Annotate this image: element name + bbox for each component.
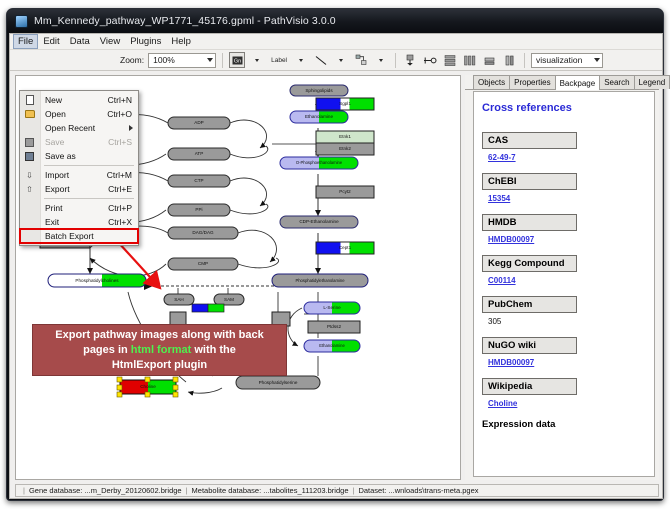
status-dataset-label: Dataset: xyxy=(358,486,386,495)
menu-item-save-accel: Ctrl+S xyxy=(108,137,132,147)
pathway-node-phosphatidylethanolamine[interactable]: Phosphatidylethanolamine xyxy=(272,274,368,287)
svg-text:Phosphatidylethanolamine: Phosphatidylethanolamine xyxy=(295,278,345,283)
pathway-node-ppi[interactable]: PPi xyxy=(168,204,230,216)
expression-data-heading: Expression data xyxy=(482,419,646,430)
svg-text:Choline: Choline xyxy=(140,384,156,389)
pathway-node-cmp[interactable]: CMP xyxy=(168,258,238,270)
svg-text:CMP: CMP xyxy=(198,261,208,266)
pathway-node-phosphatidylserine[interactable]: Phosphatidylserine xyxy=(236,376,320,389)
pathway-node-l-serine[interactable]: L-Serine xyxy=(304,302,360,314)
tab-properties[interactable]: Properties xyxy=(509,75,555,89)
pathway-gene-etnk2[interactable]: Etnk2 xyxy=(316,143,374,155)
menu-item-exit-label: Exit xyxy=(45,217,59,227)
menu-item-export-label: Export xyxy=(45,184,70,194)
callout-highlight: html format xyxy=(131,344,192,356)
svg-text:Pcyt2: Pcyt2 xyxy=(339,189,351,194)
tab-legend[interactable]: Legend xyxy=(634,75,670,89)
callout-line-1: Export pathway images along with back xyxy=(55,328,263,343)
status-gene-db-value: ...m_Derby_20120602.bridge xyxy=(84,486,181,495)
align-middle-button[interactable] xyxy=(422,52,438,68)
menu-view[interactable]: View xyxy=(95,34,125,49)
pathway-node-ethanolamine-top[interactable]: Ethanolamine xyxy=(290,111,348,123)
menu-bar: File Edit Data View Plugins Help xyxy=(10,34,662,50)
status-divider: | xyxy=(352,486,354,495)
side-panel-tabs: Objects Properties Backpage Search Legen… xyxy=(465,75,659,90)
menu-data[interactable]: Data xyxy=(65,34,95,49)
menu-item-batch-export[interactable]: Batch Export xyxy=(20,229,138,243)
menu-item-import[interactable]: ⇩ Import Ctrl+M xyxy=(20,168,138,182)
menu-item-export[interactable]: ⇧ Export Ctrl+E xyxy=(20,182,138,196)
distribute-vertical-button[interactable] xyxy=(442,52,458,68)
pathway-node-sphingolipids[interactable]: Sphingolipids xyxy=(290,85,348,96)
zoom-value: 100% xyxy=(153,55,175,65)
chevron-right-icon xyxy=(129,125,133,131)
svg-text:O-Phosphoethanolamine: O-Phosphoethanolamine xyxy=(296,160,343,165)
svg-text:CDP-Ethanolamine: CDP-Ethanolamine xyxy=(299,219,339,224)
toolbar-separator xyxy=(524,53,525,68)
pathway-gene-ptdss2[interactable]: Ptdss2 xyxy=(308,321,360,333)
file-menu-dropdown[interactable]: New Ctrl+N Open Ctrl+O Open Recent Save … xyxy=(19,90,139,246)
callout-line-2: pages in html format with the xyxy=(83,343,236,358)
gene-product-button[interactable]: Gn xyxy=(229,52,245,68)
chevron-down-icon xyxy=(594,58,600,62)
menu-item-save-as-label: Save as xyxy=(45,151,76,161)
status-divider: | xyxy=(186,486,188,495)
callout-line-3: HtmlExport plugin xyxy=(112,358,207,373)
menu-item-batch-export-label: Batch Export xyxy=(45,231,94,241)
annotation-callout: Export pathway images along with back pa… xyxy=(32,324,287,376)
pathway-node-adp[interactable]: ADP xyxy=(168,117,230,129)
cross-references-heading: Cross references xyxy=(482,102,646,114)
tab-backpage[interactable]: Backpage xyxy=(555,75,601,90)
menu-item-new[interactable]: New Ctrl+N xyxy=(20,93,138,107)
pathway-gene-sgpl1[interactable]: Sgpl1 xyxy=(316,98,374,110)
svg-text:Cept1: Cept1 xyxy=(339,245,352,250)
menu-item-open-recent-label: Open Recent xyxy=(45,123,95,133)
same-width-button[interactable] xyxy=(482,52,498,68)
toolbar-separator xyxy=(395,53,396,68)
menu-separator xyxy=(44,198,134,199)
status-gene-db-label: Gene database: xyxy=(29,486,82,495)
callout-line-2a: pages in xyxy=(83,344,131,356)
gene-product-dropdown[interactable] xyxy=(249,52,265,68)
menu-separator xyxy=(44,165,134,166)
pathway-node-ethanolamine-lower[interactable]: Ethanolamine xyxy=(304,340,360,352)
same-height-button[interactable] xyxy=(502,52,518,68)
pathway-node-atp[interactable]: ATP xyxy=(168,148,230,160)
xref-value-kegg-compound[interactable]: C00114 xyxy=(488,276,646,285)
menu-item-save: Save Ctrl+S xyxy=(20,135,138,149)
tab-search[interactable]: Search xyxy=(599,75,634,89)
xref-value-nugo-wiki[interactable]: HMDB00097 xyxy=(488,358,646,367)
menu-item-import-accel: Ctrl+M xyxy=(107,170,132,180)
svg-text:DAG/DAG: DAG/DAG xyxy=(192,230,214,235)
svg-text:Ethanolamine: Ethanolamine xyxy=(319,343,345,348)
import-icon: ⇩ xyxy=(24,170,35,181)
menu-item-print-accel: Ctrl+P xyxy=(108,203,132,213)
window-titlebar: Mm_Kennedy_pathway_WP1771_45176.gpml - P… xyxy=(7,9,663,33)
tab-objects[interactable]: Objects xyxy=(473,75,510,89)
visualization-combobox[interactable]: visualization xyxy=(531,53,603,68)
menu-item-exit-accel: Ctrl+X xyxy=(108,217,132,227)
menu-item-new-label: New xyxy=(45,95,62,105)
menu-plugins[interactable]: Plugins xyxy=(125,34,166,49)
pathway-node-choline-selected[interactable]: Choline xyxy=(117,377,178,397)
save-as-disk-icon xyxy=(24,151,35,162)
connector-dropdown[interactable] xyxy=(373,52,389,68)
svg-text:CTP: CTP xyxy=(194,178,203,183)
svg-text:SAM: SAM xyxy=(224,297,234,302)
backpage-content[interactable]: Cross references CAS 62-49-7 ChEBI 15354… xyxy=(473,91,655,477)
svg-text:Sgpl1: Sgpl1 xyxy=(339,101,351,106)
menu-item-save-label: Save xyxy=(45,137,64,147)
svg-text:Gn: Gn xyxy=(233,58,240,64)
menu-edit[interactable]: Edit xyxy=(38,34,64,49)
side-panel: Objects Properties Backpage Search Legen… xyxy=(465,75,659,480)
label-dropdown[interactable] xyxy=(293,52,309,68)
chevron-down-icon xyxy=(207,58,213,62)
svg-text:SAH: SAH xyxy=(174,297,183,302)
xref-value-pubchem: 305 xyxy=(488,317,646,326)
svg-text:Phosphatidylcholines: Phosphatidylcholines xyxy=(75,278,119,283)
new-document-icon xyxy=(24,95,35,106)
xref-value-wikipedia[interactable]: Choline xyxy=(488,399,646,408)
pathway-gene-etnk1[interactable]: Etnk1 xyxy=(316,131,374,143)
svg-text:L-Serine: L-Serine xyxy=(323,305,341,310)
status-metabolite-db-value: ...tabolites_111203.bridge xyxy=(263,486,348,495)
chevron-down-icon xyxy=(299,59,303,62)
callout-line-2b: with the xyxy=(191,344,236,356)
menu-item-open[interactable]: Open Ctrl+O xyxy=(20,107,138,121)
pathvisio-icon xyxy=(15,15,28,28)
pathway-node-cdp-ethanolamine[interactable]: CDP-Ethanolamine xyxy=(280,216,358,228)
pathway-node-ctp[interactable]: CTP xyxy=(168,175,230,187)
open-folder-icon xyxy=(24,109,35,120)
status-bar: | Gene database: ...m_Derby_20120602.bri… xyxy=(15,484,659,497)
xref-db-kegg-compound: Kegg Compound xyxy=(482,255,577,272)
line-dropdown[interactable] xyxy=(333,52,349,68)
menu-item-save-as[interactable]: Save as xyxy=(20,149,138,163)
svg-text:Ptdss2: Ptdss2 xyxy=(327,324,341,329)
window-title: Mm_Kennedy_pathway_WP1771_45176.gpml - P… xyxy=(34,15,336,27)
xref-db-cas: CAS xyxy=(482,132,577,149)
svg-text:PPi: PPi xyxy=(195,207,202,212)
menu-help[interactable]: Help xyxy=(166,34,196,49)
label-button[interactable]: Label xyxy=(269,57,289,64)
menu-item-export-accel: Ctrl+E xyxy=(108,184,132,194)
svg-text:Sphingolipids: Sphingolipids xyxy=(305,88,333,93)
xref-db-pubchem: PubChem xyxy=(482,296,577,313)
screenshot-root: Mm_Kennedy_pathway_WP1771_45176.gpml - P… xyxy=(0,0,670,509)
menu-item-print[interactable]: Print Ctrl+P xyxy=(20,201,138,215)
toolbar: Zoom: 100% Gn Label xyxy=(10,50,662,71)
save-disk-icon xyxy=(24,137,35,148)
svg-text:Etnk1: Etnk1 xyxy=(339,134,351,139)
pathway-node-dag[interactable]: DAG/DAG xyxy=(168,227,238,239)
svg-text:ADP: ADP xyxy=(194,120,203,125)
zoom-combobox[interactable]: 100% xyxy=(148,53,216,68)
menu-item-open-recent[interactable]: Open Recent xyxy=(20,121,138,135)
svg-text:Ethanolamine: Ethanolamine xyxy=(305,114,334,119)
chevron-down-icon xyxy=(379,59,383,62)
menu-item-new-accel: Ctrl+N xyxy=(108,95,132,105)
pathway-node-sam[interactable]: SAM xyxy=(214,294,244,305)
svg-text:Phosphatidylserine: Phosphatidylserine xyxy=(259,380,298,385)
xref-value-cas[interactable]: 62-49-7 xyxy=(488,153,646,162)
align-top-button[interactable] xyxy=(402,52,418,68)
line-button[interactable] xyxy=(313,52,329,68)
xref-value-hmdb[interactable]: HMDB00097 xyxy=(488,235,646,244)
zoom-label: Zoom: xyxy=(120,55,144,65)
connector-button[interactable] xyxy=(353,52,369,68)
menu-item-import-label: Import xyxy=(45,170,69,180)
toolbar-separator xyxy=(222,53,223,68)
svg-text:ATP: ATP xyxy=(195,151,204,156)
menu-item-open-accel: Ctrl+O xyxy=(107,109,132,119)
status-metabolite-db-label: Metabolite database: xyxy=(192,486,262,495)
pathway-node-phosphatidylcholines[interactable]: Phosphatidylcholines xyxy=(48,274,146,287)
pathway-gene-cept1[interactable]: Cept1 xyxy=(316,242,374,254)
application-window: Mm_Kennedy_pathway_WP1771_45176.gpml - P… xyxy=(6,8,664,501)
status-dataset-value: ...wnloads\trans-meta.pgex xyxy=(388,486,478,495)
svg-text:Etnk2: Etnk2 xyxy=(339,146,351,151)
export-icon: ⇧ xyxy=(24,184,35,195)
pathway-node-sah[interactable]: SAH xyxy=(164,294,194,305)
client-area: File Edit Data View Plugins Help Zoom: 1… xyxy=(9,33,663,499)
chevron-down-icon xyxy=(339,59,343,62)
pathway-expression-chip xyxy=(192,304,224,312)
xref-db-hmdb: HMDB xyxy=(482,214,577,231)
xref-db-nugo-wiki: NuGO wiki xyxy=(482,337,577,354)
menu-file[interactable]: File xyxy=(13,34,38,49)
pathway-node-o-phosphoethanolamine[interactable]: O-Phosphoethanolamine xyxy=(280,157,358,169)
xref-db-wikipedia: Wikipedia xyxy=(482,378,577,395)
distribute-horizontal-button[interactable] xyxy=(462,52,478,68)
xref-db-chebi: ChEBI xyxy=(482,173,577,190)
pathway-gene-pcyt2[interactable]: Pcyt2 xyxy=(316,186,374,198)
status-divider: | xyxy=(23,486,25,495)
xref-value-chebi[interactable]: 15354 xyxy=(488,194,646,203)
visualization-value: visualization xyxy=(536,55,582,65)
menu-item-exit[interactable]: Exit Ctrl+X xyxy=(20,215,138,229)
chevron-down-icon xyxy=(255,59,259,62)
menu-item-open-label: Open xyxy=(45,109,66,119)
menu-item-print-label: Print xyxy=(45,203,62,213)
